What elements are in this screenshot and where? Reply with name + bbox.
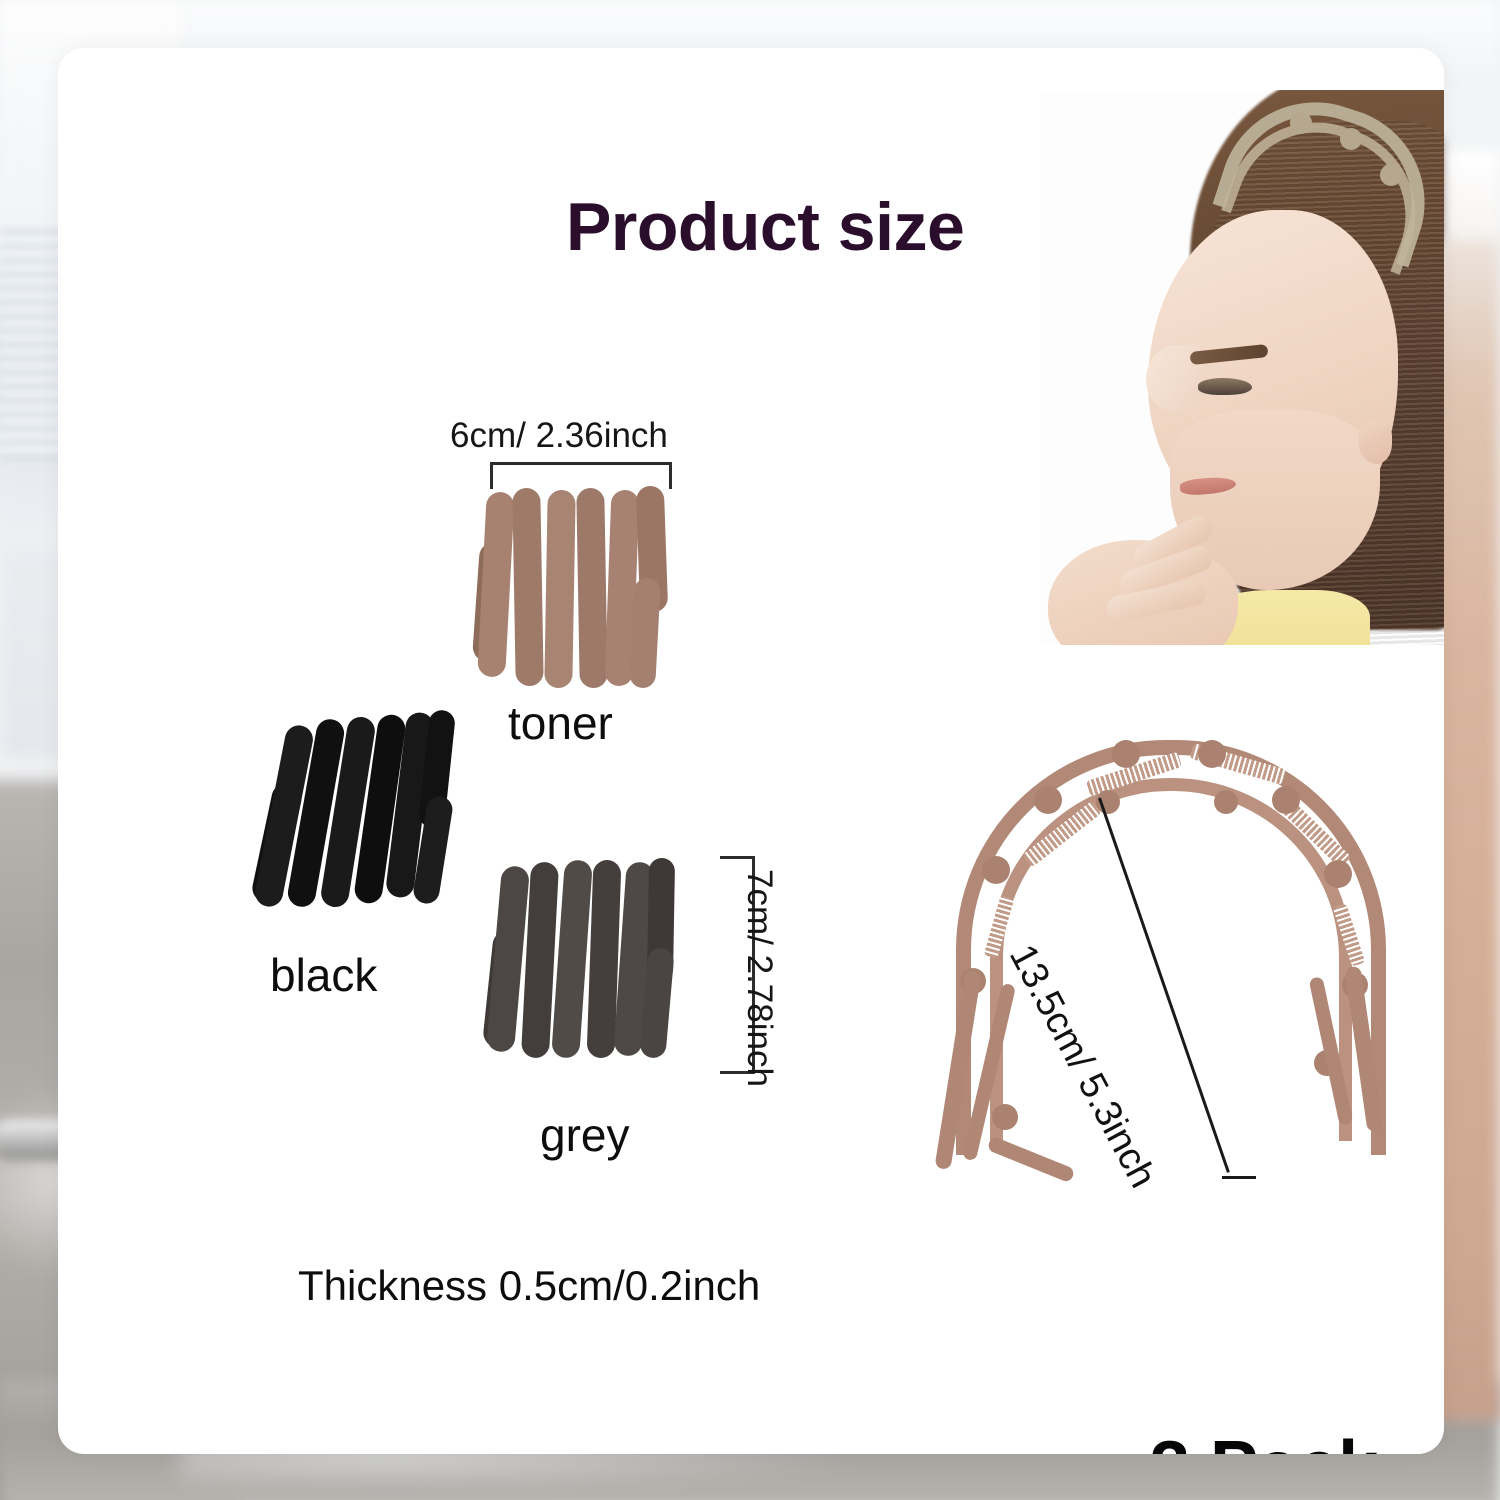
headband-node xyxy=(1272,786,1300,814)
headband-slat xyxy=(477,491,515,677)
headband-slat xyxy=(629,577,661,688)
photo-headband-knob xyxy=(1290,112,1312,134)
model-photo xyxy=(1040,90,1444,645)
color-label-grey: grey xyxy=(540,1108,629,1162)
headband-node xyxy=(1324,860,1352,888)
photo-headband-knob xyxy=(1380,164,1402,186)
headband-node xyxy=(1214,790,1238,814)
headband-slat xyxy=(512,488,543,686)
bracket-horizontal-icon xyxy=(490,462,672,489)
color-label-toner: toner xyxy=(508,696,613,750)
thickness-note: Thickness 0.5cm/0.2inch xyxy=(298,1262,760,1310)
photo-ear xyxy=(1358,420,1392,464)
headband-node xyxy=(1198,740,1226,768)
photo-eye xyxy=(1198,378,1252,395)
product-card: Product size 6cm/ 2.36inch xyxy=(58,48,1444,1454)
headband-slat xyxy=(544,490,575,688)
measurement-end-tick-icon xyxy=(1222,1176,1256,1179)
page-title: Product size xyxy=(566,188,964,266)
headband-node xyxy=(1112,740,1140,768)
width-dimension-label: 6cm/ 2.36inch xyxy=(450,416,668,456)
product-infographic: Product size 6cm/ 2.36inch xyxy=(0,0,1500,1500)
headband-slat xyxy=(576,488,607,688)
color-label-black: black xyxy=(270,948,377,1002)
product-grey xyxy=(486,858,696,1070)
photo-headband-knob xyxy=(1340,128,1362,150)
product-toner xyxy=(472,486,682,698)
headband-node xyxy=(982,856,1010,884)
headband-node xyxy=(1034,786,1062,814)
height-dimension-label: 7cm/ 2.78inch xyxy=(739,869,779,1087)
headband-node xyxy=(992,1104,1018,1130)
product-black xyxy=(256,710,476,920)
pack-count-badge: 3 Pack xyxy=(1150,1426,1378,1454)
